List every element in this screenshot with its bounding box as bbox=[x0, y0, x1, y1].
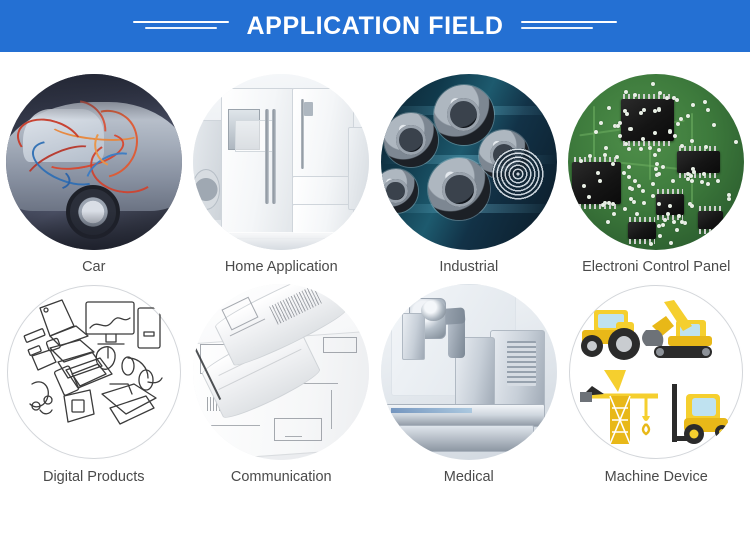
solder-pad bbox=[637, 184, 641, 188]
decorative-double-line-left-icon bbox=[133, 20, 229, 32]
solder-pad bbox=[680, 220, 684, 224]
solder-pad bbox=[727, 193, 731, 197]
solder-pad bbox=[627, 175, 631, 179]
page-header-banner: APPLICATION FIELD bbox=[0, 0, 750, 52]
rolled-blueprints-photo[interactable] bbox=[193, 284, 369, 460]
solder-pad bbox=[712, 123, 716, 127]
solder-pad bbox=[635, 212, 639, 216]
solder-pad bbox=[671, 179, 675, 183]
solder-pad bbox=[642, 201, 646, 205]
solder-pad bbox=[651, 194, 655, 198]
solder-pad bbox=[629, 197, 633, 201]
application-card-label: Home Application bbox=[225, 259, 338, 276]
solder-pad bbox=[649, 242, 653, 246]
solder-pad bbox=[654, 167, 658, 171]
solder-pad bbox=[675, 98, 679, 102]
application-card-label: Communication bbox=[231, 469, 332, 486]
solder-pad bbox=[651, 82, 655, 86]
solder-pad bbox=[669, 241, 673, 245]
solder-pad bbox=[675, 228, 679, 232]
solder-pad bbox=[657, 148, 661, 152]
solder-pad bbox=[641, 137, 645, 141]
solder-pad bbox=[686, 177, 690, 181]
solder-pad bbox=[607, 201, 611, 205]
application-card-label: Car bbox=[82, 259, 105, 276]
solder-pad bbox=[673, 134, 677, 138]
solder-pad bbox=[627, 147, 631, 151]
yellow-construction-vehicles-illustration[interactable] bbox=[568, 284, 744, 460]
solder-pad bbox=[632, 200, 636, 204]
solder-pad bbox=[657, 224, 661, 228]
application-card-medical[interactable]: Medical bbox=[375, 284, 563, 486]
solder-pad bbox=[706, 108, 710, 112]
application-row-2: Digital Products bbox=[0, 284, 750, 486]
solder-pad bbox=[657, 108, 661, 112]
solder-pad bbox=[606, 220, 610, 224]
solder-pad bbox=[690, 139, 694, 143]
solder-pad bbox=[594, 130, 598, 134]
solder-pad bbox=[657, 172, 661, 176]
solder-pad bbox=[676, 122, 680, 126]
solder-pad bbox=[633, 93, 637, 97]
solder-pad bbox=[661, 165, 665, 169]
application-card-label: Machine Device bbox=[605, 469, 708, 486]
solder-pad bbox=[706, 182, 710, 186]
device-sketch-svg bbox=[6, 284, 182, 460]
vehicles-svg bbox=[568, 284, 744, 460]
solder-pad bbox=[639, 147, 643, 151]
solder-pad bbox=[599, 121, 603, 125]
car-wiring-harness-photo[interactable] bbox=[6, 74, 182, 250]
solder-pad bbox=[623, 207, 627, 211]
solder-pad bbox=[633, 179, 637, 183]
solder-pad bbox=[607, 106, 611, 110]
solder-pad bbox=[716, 179, 720, 183]
solder-pad bbox=[616, 124, 620, 128]
application-card-label: Digital Products bbox=[43, 469, 145, 486]
solder-pad bbox=[582, 184, 586, 188]
application-card-home-application[interactable]: Home Application bbox=[188, 74, 376, 276]
solder-pad bbox=[690, 204, 694, 208]
solder-pad bbox=[628, 186, 632, 190]
solder-pad bbox=[624, 142, 628, 146]
solder-pad bbox=[727, 197, 731, 201]
tractor-icon bbox=[581, 310, 640, 360]
application-card-label: Electroni Control Panel bbox=[582, 259, 730, 276]
decorative-double-line-right-icon bbox=[521, 20, 617, 32]
solder-pad bbox=[666, 212, 670, 216]
excavator-icon bbox=[642, 300, 712, 358]
solder-pad bbox=[700, 180, 704, 184]
solder-pad bbox=[627, 165, 631, 169]
solder-pad bbox=[629, 127, 633, 131]
application-card-digital-products[interactable]: Digital Products bbox=[0, 284, 188, 486]
green-circuit-board-photo[interactable] bbox=[568, 74, 744, 250]
solder-pad bbox=[691, 103, 695, 107]
solder-pad bbox=[668, 130, 672, 134]
solder-pad bbox=[657, 202, 661, 206]
digital-devices-line-sketch[interactable] bbox=[6, 284, 182, 460]
application-card-electronic-control-panel[interactable]: Electroni Control Panel bbox=[563, 74, 750, 276]
forklift-icon bbox=[672, 384, 729, 444]
page-title: APPLICATION FIELD bbox=[247, 14, 504, 39]
solder-pad bbox=[604, 146, 608, 150]
solder-pad bbox=[686, 172, 690, 176]
application-field-grid: Car bbox=[0, 52, 750, 487]
application-card-industrial[interactable]: Industrial bbox=[375, 74, 563, 276]
solder-pad bbox=[612, 212, 616, 216]
solder-pad bbox=[653, 153, 657, 157]
application-row-1: Car bbox=[0, 74, 750, 276]
application-card-car[interactable]: Car bbox=[0, 74, 188, 276]
solder-pad bbox=[703, 100, 707, 104]
application-card-label: Medical bbox=[444, 469, 494, 486]
application-card-communication[interactable]: Communication bbox=[188, 284, 376, 486]
solder-pad bbox=[648, 146, 652, 150]
solder-pad bbox=[598, 179, 602, 183]
solder-pad bbox=[672, 220, 676, 224]
application-card-label: Industrial bbox=[439, 259, 498, 276]
solder-pad bbox=[690, 179, 694, 183]
solder-pad bbox=[579, 159, 583, 163]
solder-pad bbox=[653, 109, 657, 113]
solder-pad bbox=[622, 171, 626, 175]
application-card-machine-device[interactable]: Machine Device bbox=[563, 284, 750, 486]
refrigerator-appliances-photo[interactable] bbox=[193, 74, 369, 250]
solder-pad bbox=[651, 182, 655, 186]
solder-pad bbox=[677, 214, 681, 218]
solder-pad bbox=[686, 114, 690, 118]
solder-pad bbox=[692, 170, 696, 174]
medical-xray-machine-photo[interactable] bbox=[381, 284, 557, 460]
solder-pad bbox=[734, 140, 738, 144]
solder-pad bbox=[663, 218, 667, 222]
solder-pad bbox=[661, 223, 665, 227]
crane-icon bbox=[580, 370, 658, 444]
solder-pad bbox=[658, 234, 662, 238]
metal-gears-photo[interactable] bbox=[381, 74, 557, 250]
solder-pad bbox=[641, 189, 645, 193]
